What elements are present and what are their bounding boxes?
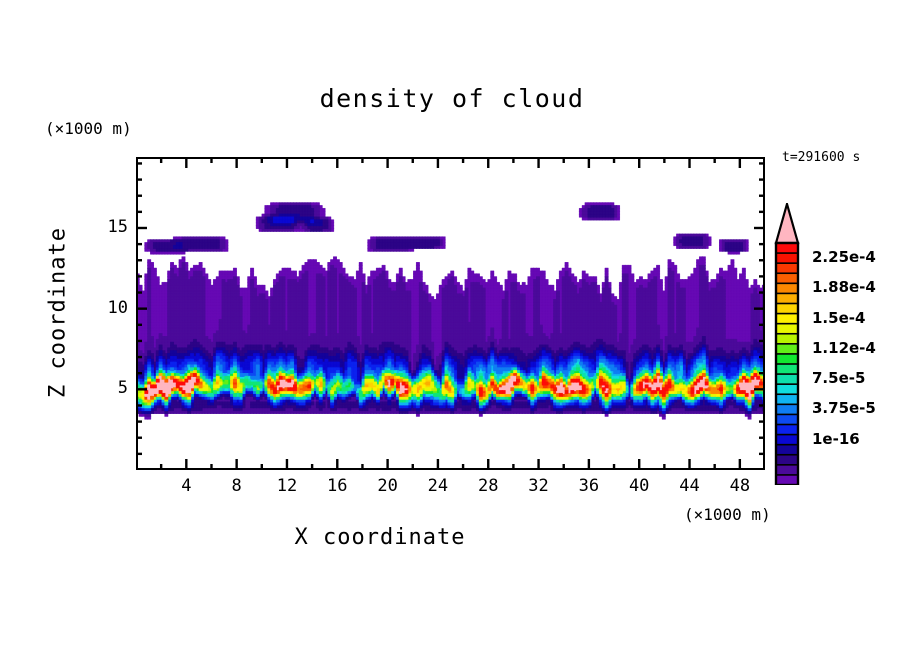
colorbar-tick-label: 7.5e-5 bbox=[812, 369, 865, 387]
colorbar-tick-label: 2.25e-4 bbox=[812, 248, 876, 266]
x-tick-label: 8 bbox=[217, 476, 257, 496]
z-axis-unit-label: (×1000 m) bbox=[45, 119, 132, 138]
y-tick-label: 15 bbox=[108, 217, 128, 237]
x-tick-label: 40 bbox=[619, 476, 659, 496]
y-axis-label: Z coordinate bbox=[46, 203, 71, 423]
timestamp-annotation: t=291600 s bbox=[782, 150, 860, 165]
colorbar bbox=[770, 203, 810, 485]
x-tick-label: 28 bbox=[468, 476, 508, 496]
x-tick-label: 44 bbox=[670, 476, 710, 496]
x-tick-label: 36 bbox=[569, 476, 609, 496]
x-tick-label: 16 bbox=[317, 476, 357, 496]
chart-title: density of cloud bbox=[0, 84, 904, 113]
colorbar-tick-label: 1.88e-4 bbox=[812, 278, 876, 296]
x-tick-label: 4 bbox=[166, 476, 206, 496]
colorbar-tick-label: 1.5e-4 bbox=[812, 309, 865, 327]
y-tick-label: 5 bbox=[118, 378, 128, 398]
x-tick-label: 24 bbox=[418, 476, 458, 496]
colorbar-tick-label: 1e-16 bbox=[812, 430, 860, 448]
x-tick-label: 48 bbox=[720, 476, 760, 496]
x-tick-label: 20 bbox=[368, 476, 408, 496]
colorbar-tick-label: 1.12e-4 bbox=[812, 339, 876, 357]
x-axis-unit-label: (×1000 m) bbox=[684, 505, 771, 524]
x-tick-label: 32 bbox=[519, 476, 559, 496]
colorbar-tick-label: 3.75e-5 bbox=[812, 399, 876, 417]
y-tick-label: 10 bbox=[108, 298, 128, 318]
x-axis-label: X coordinate bbox=[0, 525, 760, 550]
contour-plot-area bbox=[136, 157, 765, 470]
x-axis-tick-labels: 4812162024283236404448 bbox=[136, 472, 765, 502]
x-tick-label: 12 bbox=[267, 476, 307, 496]
